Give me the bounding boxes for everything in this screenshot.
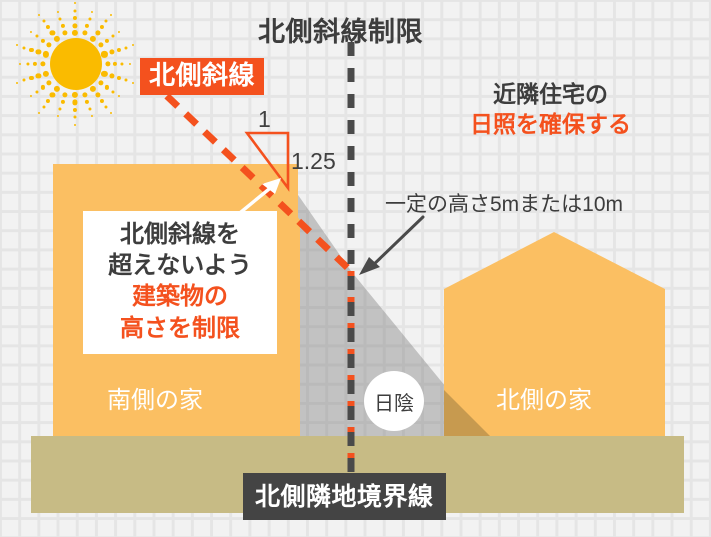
sun-disc (50, 38, 102, 90)
south-house-label: 南側の家 (107, 380, 203, 415)
height-threshold-note: 一定の高さ5mまたは10m (385, 188, 623, 218)
callout-line-4: 高さを制限 (83, 313, 277, 344)
shade-badge: 日陰 (364, 371, 424, 431)
dark-arrow-icon (355, 215, 425, 277)
callout-line-1: 北側斜線を (83, 219, 277, 250)
callout-line-3: 建築物の (83, 281, 277, 312)
callout-line-2: 超えないよう (83, 250, 277, 281)
sunlight-note: 近隣住宅の 日照を確保する (470, 79, 631, 140)
sun-icon (14, 6, 136, 122)
ratio-run-label: 1.25 (291, 148, 336, 175)
south-house-callout: 北側斜線を 超えないよう 建築物の 高さを制限 (83, 211, 277, 354)
diagram-canvas: 1 1.25 北側斜線制限 北側斜線 近隣住宅の 日照を確保する 一定の高さ5m… (0, 0, 711, 537)
north-house-label: 北側の家 (496, 380, 592, 415)
boundary-line-label: 北側隣地境界線 (243, 473, 446, 520)
sunlight-note-line2: 日照を確保する (470, 109, 631, 139)
page-title: 北側斜線制限 (258, 10, 423, 49)
ratio-rise-label: 1 (258, 106, 271, 133)
sunlight-note-line1: 近隣住宅の (470, 79, 631, 109)
slope-line-tag: 北側斜線 (140, 58, 264, 95)
